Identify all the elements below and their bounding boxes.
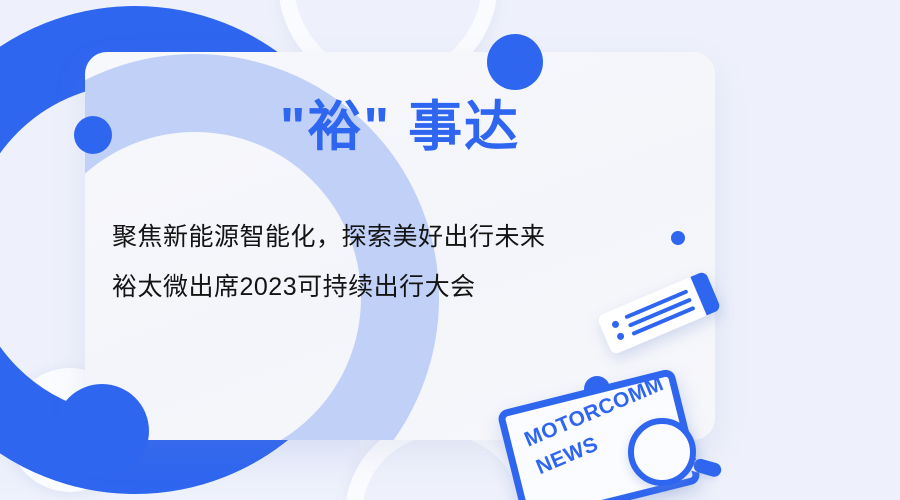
magnifier-icon — [628, 418, 696, 486]
subtitle-line-1: 聚焦新能源智能化，探索美好出行未来 — [112, 212, 672, 262]
subtitle-block: 聚焦新能源智能化，探索美好出行未来 裕太微出席2023可持续出行大会 — [112, 212, 672, 312]
promo-banner: "裕" 事达 聚焦新能源智能化，探索美好出行未来 裕太微出席2023可持续出行大… — [0, 0, 900, 500]
list-bullet-icon — [611, 320, 620, 329]
list-bullet-icon — [616, 332, 625, 341]
page-title: "裕" 事达 — [85, 96, 715, 158]
decorative-dot-bottom-left — [55, 384, 149, 478]
decorative-dot-top — [487, 34, 543, 90]
subtitle-line-2: 裕太微出席2023可持续出行大会 — [112, 262, 672, 312]
decorative-dot-subtitle — [671, 231, 685, 245]
